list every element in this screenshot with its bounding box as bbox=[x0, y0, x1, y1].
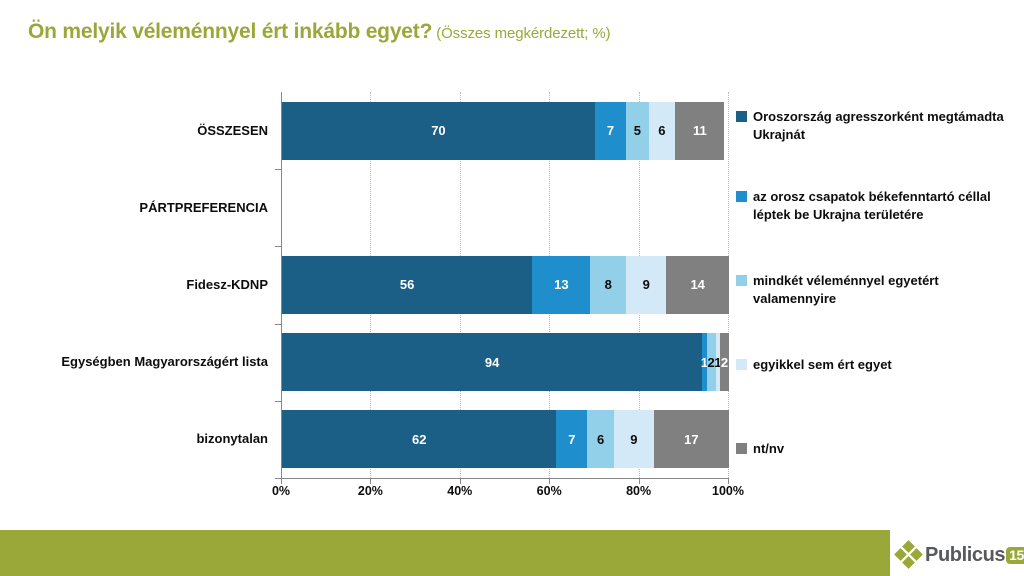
bar-segment-value: 17 bbox=[684, 432, 698, 447]
bar-segment-2[interactable]: 13 bbox=[532, 256, 590, 314]
legend-item-3[interactable]: mindkét véleménnyel egyetért valamennyir… bbox=[736, 272, 1012, 307]
bar-segment-4[interactable]: 9 bbox=[626, 256, 666, 314]
x-axis-label-0: 0% bbox=[251, 484, 311, 498]
bar-segment-1[interactable]: 94 bbox=[282, 333, 702, 391]
bar-segment-4[interactable]: 6 bbox=[649, 102, 676, 160]
category-label-1: ÖSSZESEN bbox=[0, 124, 268, 137]
bar-segment-value: 6 bbox=[658, 123, 665, 138]
legend-item-4[interactable]: egyikkel sem ért egyet bbox=[736, 356, 1012, 374]
bar-segment-1[interactable]: 70 bbox=[282, 102, 595, 160]
legend-label-1: Oroszország agresszorként megtámadta Ukr… bbox=[753, 108, 1012, 143]
bar-segment-value: 13 bbox=[554, 277, 568, 292]
legend-label-5: nt/nv bbox=[753, 440, 784, 458]
bar-segment-5[interactable]: 14 bbox=[666, 256, 729, 314]
category-label-3: Fidesz-KDNP bbox=[0, 278, 268, 291]
bar-segment-5[interactable]: 11 bbox=[675, 102, 724, 160]
bar-segment-1[interactable]: 62 bbox=[282, 410, 556, 468]
legend-item-1[interactable]: Oroszország agresszorként megtámadta Ukr… bbox=[736, 108, 1012, 143]
stacked-bar[interactable]: 941212 bbox=[282, 333, 729, 391]
legend-item-2[interactable]: az orosz csapatok békefenntartó céllal l… bbox=[736, 188, 1012, 223]
bar-segment-value: 5 bbox=[634, 123, 641, 138]
category-label-2: PÁRTPREFERENCIA bbox=[0, 201, 268, 214]
bar-segment-value: 7 bbox=[607, 123, 614, 138]
logo-anniversary-badge: 15 bbox=[1006, 547, 1024, 564]
stacked-bar[interactable]: 6276917 bbox=[282, 410, 729, 468]
x-axis-label-20: 20% bbox=[340, 484, 400, 498]
bar-segment-2[interactable]: 7 bbox=[556, 410, 587, 468]
bar-segment-value: 62 bbox=[412, 432, 426, 447]
bar-segment-value: 14 bbox=[690, 277, 704, 292]
bar-segment-3[interactable]: 6 bbox=[587, 410, 614, 468]
legend-item-5[interactable]: nt/nv bbox=[736, 440, 1012, 458]
legend-label-4: egyikkel sem ért egyet bbox=[753, 356, 892, 374]
stacked-bar[interactable]: 56138914 bbox=[282, 256, 729, 314]
category-label-4: Egységben Magyarországért lista bbox=[0, 355, 268, 368]
legend-swatch-series-2 bbox=[736, 191, 747, 202]
stacked-bar-chart: ÖSSZESEN7075611PÁRTPREFERENCIAFidesz-KDN… bbox=[0, 0, 1024, 512]
bar-segment-2[interactable]: 7 bbox=[595, 102, 626, 160]
bar-segment-3[interactable]: 5 bbox=[626, 102, 648, 160]
legend-swatch-series-4 bbox=[736, 359, 747, 370]
bar-segment-value: 11 bbox=[693, 123, 707, 138]
bar-segment-value: 8 bbox=[605, 277, 612, 292]
bar-segment-value: 94 bbox=[485, 355, 499, 370]
bar-segment-value: 2 bbox=[721, 355, 728, 370]
x-axis-line bbox=[281, 478, 729, 479]
bar-segment-5[interactable]: 2 bbox=[720, 333, 729, 391]
bar-segment-value: 9 bbox=[643, 277, 650, 292]
bar-segment-3[interactable]: 8 bbox=[590, 256, 626, 314]
logo-wordmark: Publicus bbox=[925, 544, 1005, 567]
legend-label-2: az orosz csapatok békefenntartó céllal l… bbox=[753, 188, 1012, 223]
x-axis-label-80: 80% bbox=[609, 484, 669, 498]
legend-label-3: mindkét véleménnyel egyetért valamennyir… bbox=[753, 272, 1012, 307]
publicus-logo: Publicus15 bbox=[896, 535, 1024, 575]
x-axis-label-60: 60% bbox=[519, 484, 579, 498]
category-label-5: bizonytalan bbox=[0, 432, 268, 445]
bar-segment-value: 9 bbox=[630, 432, 637, 447]
stacked-bar[interactable]: 7075611 bbox=[282, 102, 729, 160]
legend-swatch-series-5 bbox=[736, 443, 747, 454]
footer-bar bbox=[0, 530, 890, 576]
bar-segment-1[interactable]: 56 bbox=[282, 256, 532, 314]
legend-swatch-series-1 bbox=[736, 111, 747, 122]
legend-swatch-series-3 bbox=[736, 275, 747, 286]
bar-segment-value: 6 bbox=[597, 432, 604, 447]
bar-segment-value: 7 bbox=[568, 432, 575, 447]
bar-segment-value: 56 bbox=[400, 277, 414, 292]
bar-segment-5[interactable]: 17 bbox=[654, 410, 729, 468]
diamond-logo-icon bbox=[896, 542, 922, 568]
x-axis-label-100: 100% bbox=[698, 484, 758, 498]
bar-segment-value: 70 bbox=[431, 123, 445, 138]
x-axis-label-40: 40% bbox=[430, 484, 490, 498]
bar-segment-4[interactable]: 9 bbox=[614, 410, 654, 468]
